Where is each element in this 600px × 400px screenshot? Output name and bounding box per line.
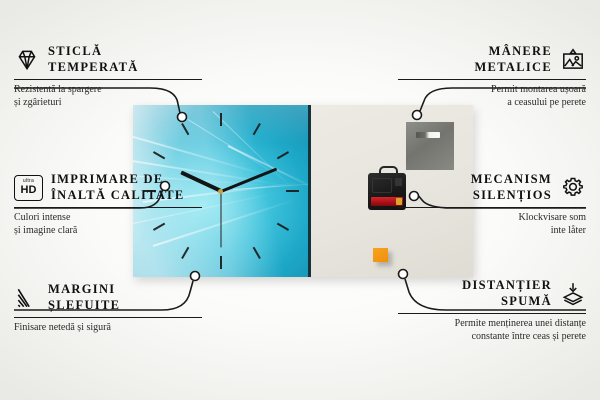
product-infographic: STICLĂ TEMPERATĂ Rezistentă la spargere … [0, 0, 600, 400]
feature-title: DISTANȚIER SPUMĂ [462, 278, 552, 310]
clock-second-hand [220, 191, 221, 247]
feature-tempered-glass: STICLĂ TEMPERATĂ Rezistentă la spargere … [14, 44, 202, 109]
feature-subtitle: Klockvisare som inte låter [398, 208, 586, 237]
hanger-plate [406, 122, 454, 170]
feature-title: MECANISM SILENȚIOS [471, 172, 552, 204]
movement-housing-detail [372, 178, 392, 193]
arrow-down-layers-icon [560, 281, 586, 307]
gear-icon [560, 175, 586, 201]
feature-polished-edges: MARGINI ȘLEFUITE Finisare netedă și sigu… [14, 282, 202, 334]
feature-subtitle: Permite menținerea unei distanțe constan… [398, 314, 586, 343]
movement-hanging-loop [379, 166, 398, 177]
feature-subtitle: Culori intense și imagine clară [14, 208, 202, 237]
feature-title: MARGINI ȘLEFUITE [48, 282, 120, 314]
feature-title: IMPRIMARE DE ÎNALTĂ CALITATE [51, 172, 185, 204]
feature-metal-handles: MÂNERE METALICE Permit montarea ușoară a… [398, 44, 586, 109]
polished-edges-icon [14, 285, 40, 311]
ultra-hd-icon-large-text: HD [21, 185, 37, 196]
picture-frame-icon [560, 47, 586, 73]
feature-subtitle: Rezistentă la spargere și zgârieturi [14, 80, 202, 109]
feature-subtitle: Finisare netedă și sigură [14, 318, 202, 334]
clock-center-hub [218, 189, 223, 194]
feature-title: MÂNERE METALICE [474, 44, 552, 76]
feature-silent-mechanism: MECANISM SILENȚIOS Klockvisare som inte … [398, 172, 586, 237]
feature-subtitle: Permit montarea ușoară a ceasului pe per… [398, 80, 586, 109]
foam-spacer [373, 248, 388, 262]
feature-title: STICLĂ TEMPERATĂ [48, 44, 139, 76]
feature-high-quality-print: ultra HD IMPRIMARE DE ÎNALTĂ CALITATE Cu… [14, 172, 202, 237]
diamond-icon [14, 47, 40, 73]
feature-foam-spacer: DISTANȚIER SPUMĂ Permite menținerea unei… [398, 278, 586, 343]
ultra-hd-icon: ultra HD [14, 175, 43, 201]
hanger-slot [416, 132, 440, 138]
